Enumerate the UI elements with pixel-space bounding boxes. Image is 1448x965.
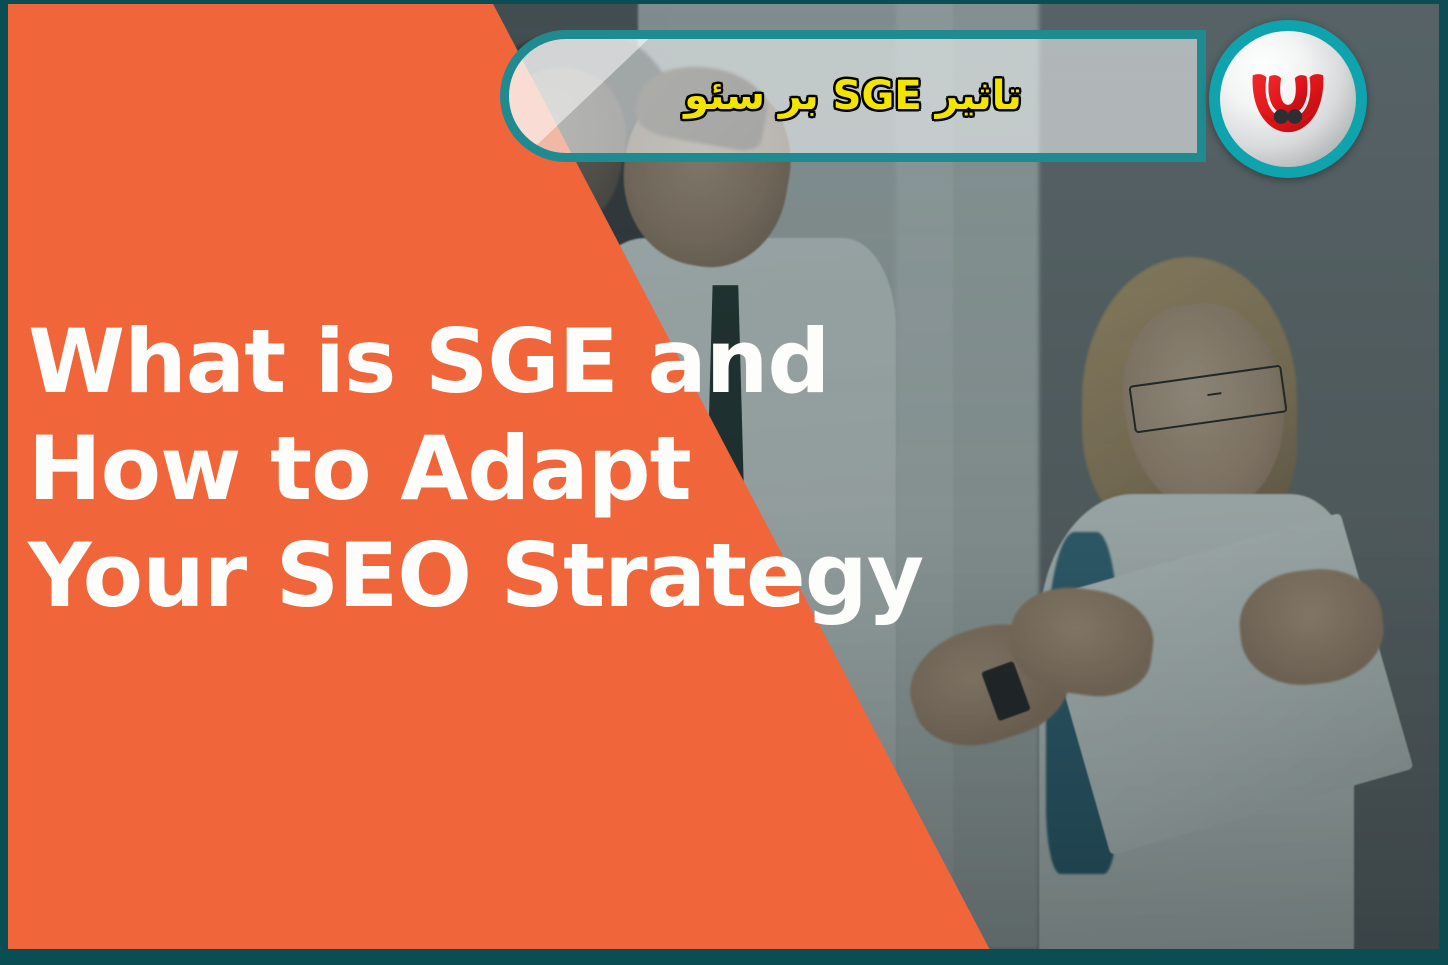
top-banner: تاثیر SGE بر سئو [500, 30, 1206, 162]
logo-disc [1220, 31, 1356, 167]
frame-left [0, 0, 8, 965]
page-title: What is SGE and How to Adapt Your SEO St… [28, 308, 928, 629]
frame-bottom [0, 949, 1448, 965]
frame-right [1439, 0, 1448, 965]
cover-canvas: What is SGE and How to Adapt Your SEO St… [0, 0, 1448, 965]
droplet-logo-icon [1239, 50, 1337, 148]
banner-title: تاثیر SGE بر سئو [509, 39, 1197, 153]
brand-logo[interactable] [1209, 20, 1367, 178]
frame-top [0, 0, 1448, 4]
